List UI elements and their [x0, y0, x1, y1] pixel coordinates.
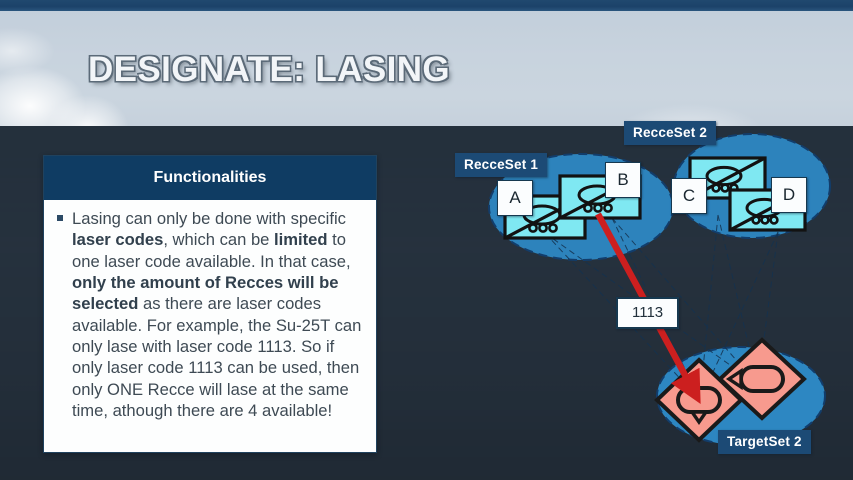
slide-canvas: DESIGNATE: LASING Functionalities Lasing… [0, 0, 853, 480]
targetset2-label[interactable]: TargetSet 2 [718, 430, 811, 454]
unit-label-a[interactable]: A [497, 180, 533, 216]
assignment-diagram: RecceSet 1 RecceSet 2 TargetSet 2 A B C … [0, 0, 853, 480]
unit-label-c[interactable]: C [671, 178, 707, 214]
recceset2-label[interactable]: RecceSet 2 [624, 121, 716, 145]
unit-label-b[interactable]: B [605, 162, 641, 198]
unit-label-d[interactable]: D [771, 177, 807, 213]
laser-code-label[interactable]: 1113 [616, 297, 679, 329]
diagram-vector-layer [0, 0, 853, 480]
recceset1-label[interactable]: RecceSet 1 [455, 153, 547, 177]
